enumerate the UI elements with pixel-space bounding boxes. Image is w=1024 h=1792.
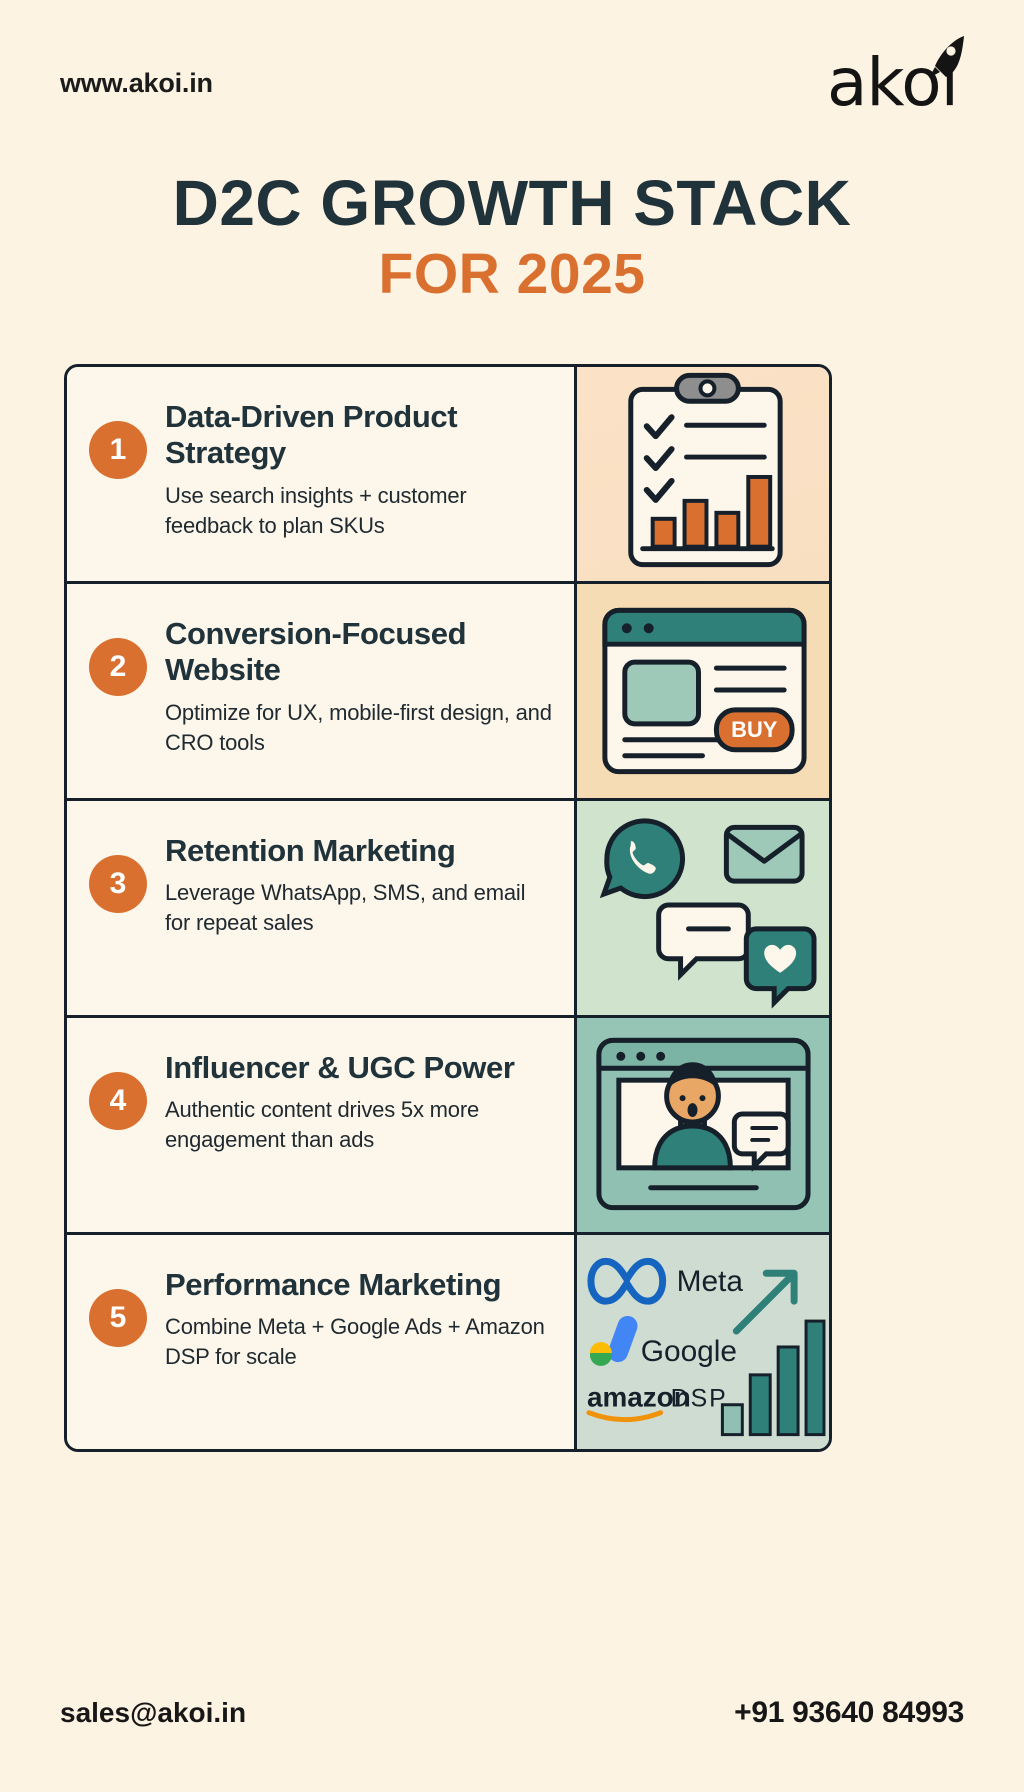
step-number-badge: 5: [89, 1289, 147, 1347]
meta-label: Meta: [677, 1265, 744, 1298]
title-line-1: D2C GROWTH STACK: [0, 170, 1024, 238]
row-content: 3 Retention Marketing Leverage WhatsApp,…: [67, 801, 577, 1015]
row-description: Use search insights + customer feedback …: [165, 481, 556, 541]
clipboard-chart-illustration: [577, 367, 829, 581]
page-header: www.akoi.in akoi: [0, 28, 1024, 138]
meta-logo: Meta: [591, 1261, 743, 1301]
dsp-label: DSP: [671, 1385, 728, 1413]
list-item: 2 Conversion-Focused Website Optimize fo…: [67, 584, 829, 801]
row-title: Retention Marketing: [165, 833, 556, 869]
row-content: 5 Performance Marketing Combine Meta + G…: [67, 1235, 577, 1449]
envelope-icon: [726, 827, 802, 881]
rocket-icon: [920, 34, 966, 86]
messaging-channels-illustration: [577, 801, 829, 1015]
row-content: 2 Conversion-Focused Website Optimize fo…: [67, 584, 577, 798]
list-item: 4 Influencer & UGC Power Authentic conte…: [67, 1018, 829, 1235]
site-url: www.akoi.in: [60, 68, 213, 99]
row-title: Data-Driven Product Strategy: [165, 399, 556, 472]
ad-platforms-illustration: Meta Google amazon DSP: [577, 1235, 829, 1449]
row-description: Combine Meta + Google Ads + Amazon DSP f…: [165, 1312, 556, 1372]
step-number-badge: 1: [89, 421, 147, 479]
amazon-dsp-logo: amazon DSP: [587, 1382, 728, 1420]
infographic-page: www.akoi.in akoi D2C GROWTH STACK FOR 20…: [0, 0, 1024, 1792]
chat-bubble-icon: [659, 905, 749, 975]
step-number-badge: 2: [89, 638, 147, 696]
brand-logo: akoi: [827, 50, 964, 116]
page-title: D2C GROWTH STACK FOR 2025: [0, 170, 1024, 307]
row-title: Performance Marketing: [165, 1267, 556, 1303]
heart-bubble-icon: [746, 929, 814, 1003]
creator-video-illustration: [577, 1018, 829, 1232]
whatsapp-icon: [604, 821, 683, 897]
row-description: Optimize for UX, mobile-first design, an…: [165, 698, 556, 758]
step-number-badge: 3: [89, 855, 147, 913]
contact-email[interactable]: sales@akoi.in: [60, 1697, 246, 1729]
step-number-badge: 4: [89, 1072, 147, 1130]
row-title: Conversion-Focused Website: [165, 616, 556, 689]
google-ads-logo: Google: [590, 1313, 737, 1368]
row-title: Influencer & UGC Power: [165, 1050, 556, 1086]
list-item: 3 Retention Marketing Leverage WhatsApp,…: [67, 801, 829, 1018]
list-item: 5 Performance Marketing Combine Meta + G…: [67, 1235, 829, 1449]
row-content: 1 Data-Driven Product Strategy Use searc…: [67, 367, 577, 581]
growth-stack-list: 1 Data-Driven Product Strategy Use searc…: [64, 364, 832, 1452]
list-item: 1 Data-Driven Product Strategy Use searc…: [67, 367, 829, 584]
row-description: Leverage WhatsApp, SMS, and email for re…: [165, 878, 556, 938]
page-footer: sales@akoi.in +91 93640 84993: [0, 1696, 1024, 1730]
browser-buy-illustration: BUY: [577, 584, 829, 798]
contact-phone[interactable]: +91 93640 84993: [734, 1696, 964, 1730]
row-content: 4 Influencer & UGC Power Authentic conte…: [67, 1018, 577, 1232]
buy-button-label: BUY: [731, 717, 778, 742]
google-label: Google: [641, 1335, 737, 1368]
title-line-2: FOR 2025: [0, 242, 1024, 308]
row-description: Authentic content drives 5x more engagem…: [165, 1095, 556, 1155]
